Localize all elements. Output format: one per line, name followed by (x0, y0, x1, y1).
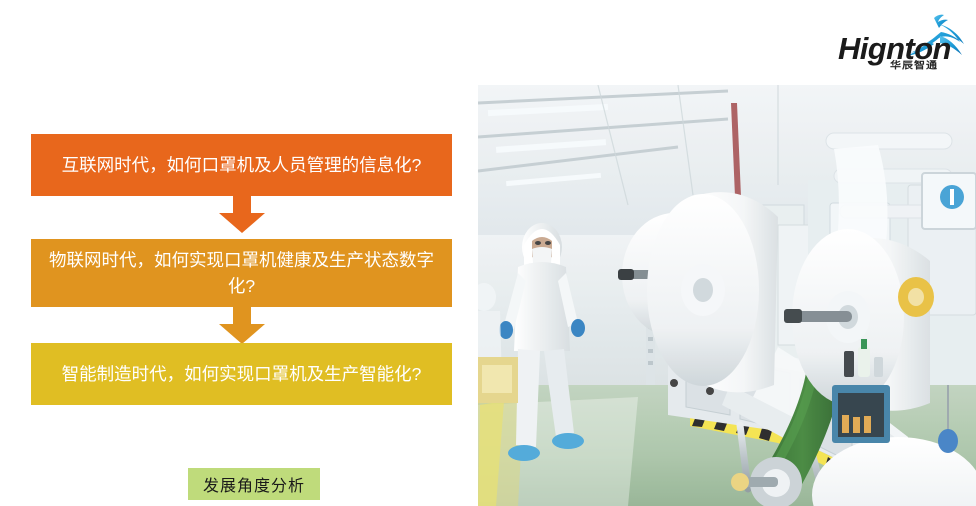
box-smart-manufacturing-era: 智能制造时代，如何实现口罩机及生产智能化? (31, 343, 452, 405)
factory-photo (478, 85, 976, 506)
slide-canvas: Hignton 华辰智通 互联网时代，如何口罩机及人员管理的信息化? 物联网时代… (0, 0, 976, 506)
box-iot-era: 物联网时代，如何实现口罩机健康及生产状态数字化? (31, 239, 452, 307)
box-iot-era-text: 物联网时代，如何实现口罩机健康及生产状态数字化? (45, 247, 438, 300)
arrow-down-icon-2 (218, 307, 266, 345)
arrow-down-icon-1 (218, 196, 266, 234)
caption-label: 发展角度分析 (203, 472, 305, 496)
caption-badge: 发展角度分析 (188, 468, 320, 500)
logo-wordmark: Hignton (838, 33, 951, 64)
box-smart-manufacturing-era-text: 智能制造时代，如何实现口罩机及生产智能化? (62, 361, 422, 387)
box-internet-era: 互联网时代，如何口罩机及人员管理的信息化? (31, 134, 452, 196)
company-logo: Hignton 华辰智通 (838, 14, 968, 74)
box-internet-era-text: 互联网时代，如何口罩机及人员管理的信息化? (62, 152, 422, 178)
logo-chinese-name: 华辰智通 (890, 62, 938, 72)
